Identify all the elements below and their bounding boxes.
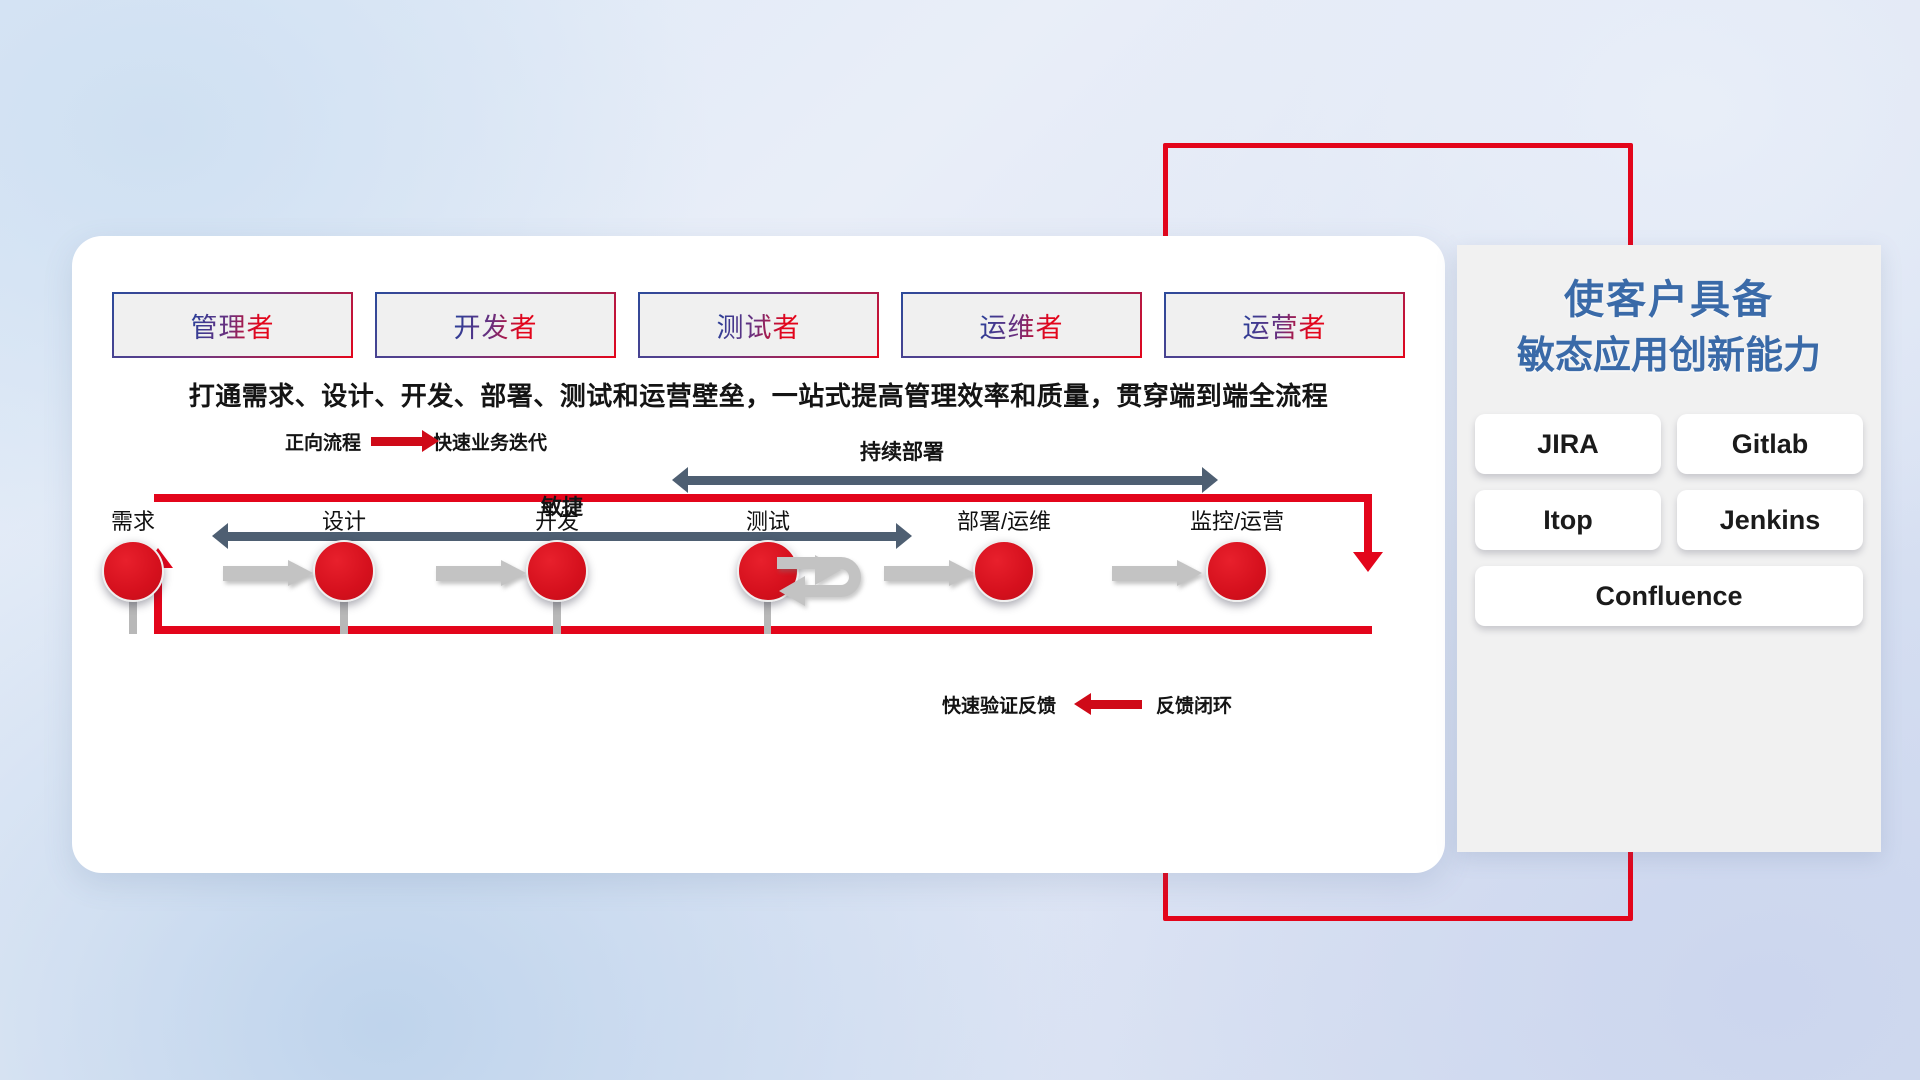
stage-requirement[interactable]: 需求 bbox=[63, 504, 203, 602]
arrow-head bbox=[1177, 560, 1202, 586]
arrow-shaft bbox=[685, 476, 1205, 485]
stage-design[interactable]: 设计 bbox=[274, 504, 414, 602]
legend-forward-to-label: 快速业务迭代 bbox=[433, 428, 547, 455]
flow-arrow-deploy-to-monitor-icon bbox=[1112, 560, 1202, 586]
arrow-left-red-icon bbox=[1090, 700, 1142, 709]
legend-forward-from-label: 正向流程 bbox=[285, 428, 361, 455]
role-label: 运维者 bbox=[980, 306, 1064, 345]
arrow-right-red-icon bbox=[371, 437, 423, 446]
flow-arrow-requirement-to-design-icon bbox=[223, 560, 313, 586]
tool-chip-itop[interactable]: Itop bbox=[1475, 490, 1661, 550]
stage-deploy-ops[interactable]: 部署/运维 bbox=[934, 504, 1074, 602]
panel-title: 使客户具备 敏态应用创新能力 bbox=[1457, 271, 1881, 384]
red-loop-bottom-segment bbox=[154, 626, 1372, 634]
capability-panel: 使客户具备 敏态应用创新能力 JIRA Gitlab Itop Jenkins … bbox=[1457, 245, 1881, 852]
stage-development[interactable]: 开发 bbox=[487, 504, 627, 602]
main-diagram-card: 管理者 开发者 测试者 运维者 运营者 打通需求、设计、开发、部署、测试和运营壁… bbox=[72, 236, 1445, 873]
role-box-operations-engineer[interactable]: 运维者 bbox=[901, 292, 1142, 358]
arrow-head bbox=[949, 560, 974, 586]
span-label-continuous-deployment: 持续部署 bbox=[792, 436, 1012, 466]
tool-chip-jenkins[interactable]: Jenkins bbox=[1677, 490, 1863, 550]
tool-chip-gitlab[interactable]: Gitlab bbox=[1677, 414, 1863, 474]
role-label: 开发者 bbox=[454, 306, 538, 345]
role-box-manager[interactable]: 管理者 bbox=[112, 292, 353, 358]
tool-chip-jira[interactable]: JIRA bbox=[1475, 414, 1661, 474]
arrow-tip-right bbox=[1202, 467, 1218, 493]
stage-dot-icon bbox=[1206, 540, 1268, 602]
stage-dot-icon bbox=[313, 540, 375, 602]
tool-chip-list: JIRA Gitlab Itop Jenkins Confluence bbox=[1475, 414, 1863, 626]
tool-chip-confluence[interactable]: Confluence bbox=[1475, 566, 1863, 626]
flow-arrow-design-to-development-icon bbox=[436, 560, 526, 586]
flow-arrow-testing-to-deploy-icon bbox=[884, 560, 974, 586]
legend-feedback-to-label: 快速验证反馈 bbox=[942, 691, 1056, 718]
legend-feedback-from-label: 反馈闭环 bbox=[1156, 691, 1232, 718]
role-label: 管理者 bbox=[191, 306, 275, 345]
headline-text: 打通需求、设计、开发、部署、测试和运营壁垒，一站式提高管理效率和质量，贯穿端到端… bbox=[72, 376, 1445, 413]
stage-label: 设计 bbox=[274, 504, 414, 536]
arrow-shaft bbox=[884, 566, 952, 581]
stage-label: 需求 bbox=[63, 504, 203, 536]
stage-label: 部署/运维 bbox=[934, 504, 1074, 536]
legend-feedback-loop: 快速验证反馈 反馈闭环 bbox=[942, 691, 1232, 718]
role-box-tester[interactable]: 测试者 bbox=[638, 292, 879, 358]
stage-dot-icon bbox=[973, 540, 1035, 602]
stage-label: 测试 bbox=[698, 504, 838, 536]
stage-label: 开发 bbox=[487, 504, 627, 536]
stage-dot-icon bbox=[102, 540, 164, 602]
stage-label: 监控/运营 bbox=[1167, 504, 1307, 536]
arrow-shaft bbox=[223, 566, 291, 581]
role-box-business-operator[interactable]: 运营者 bbox=[1164, 292, 1405, 358]
panel-title-line-1: 使客户具备 bbox=[1457, 271, 1881, 329]
arrow-head bbox=[501, 560, 526, 586]
double-arrow-continuous-deployment-icon bbox=[672, 467, 1218, 493]
arrow-shaft bbox=[436, 566, 504, 581]
role-label: 测试者 bbox=[717, 306, 801, 345]
loop-back-arrow-development-testing-icon bbox=[775, 551, 879, 609]
role-box-developer[interactable]: 开发者 bbox=[375, 292, 616, 358]
red-loop-top-segment bbox=[154, 494, 1372, 502]
panel-title-line-2: 敏态应用创新能力 bbox=[1457, 329, 1881, 384]
arrow-shaft bbox=[1112, 566, 1180, 581]
stage-dot-icon bbox=[526, 540, 588, 602]
arrow-head bbox=[288, 560, 313, 586]
stage-monitor-operations[interactable]: 监控/运营 bbox=[1167, 504, 1307, 602]
role-label: 运营者 bbox=[1243, 306, 1327, 345]
legend-forward-flow: 正向流程 快速业务迭代 bbox=[285, 428, 547, 455]
role-box-row: 管理者 开发者 测试者 运维者 运营者 bbox=[112, 292, 1405, 358]
